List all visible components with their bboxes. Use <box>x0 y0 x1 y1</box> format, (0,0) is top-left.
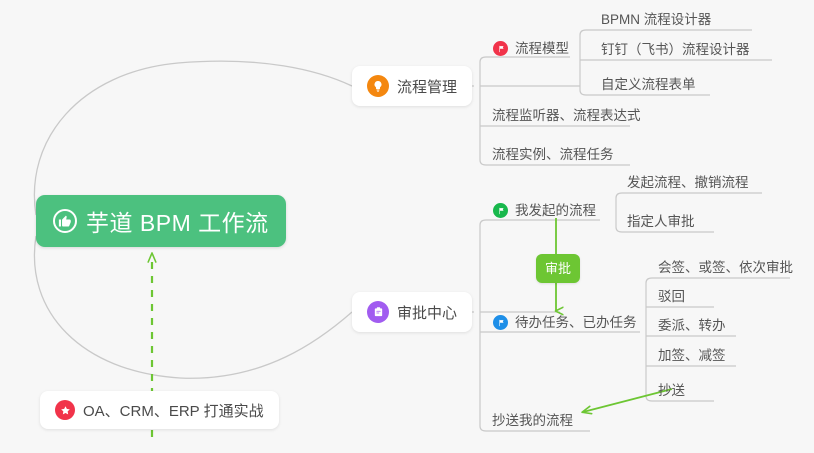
leaf-custom-form[interactable]: 自定义流程表单 <box>601 77 696 98</box>
leaf-label-bpmn-designer: BPMN 流程设计器 <box>601 12 711 28</box>
leaf-label-start-cancel: 发起流程、撤销流程 <box>627 175 749 191</box>
lightbulb-icon <box>367 75 389 97</box>
leaf-start-cancel[interactable]: 发起流程、撤销流程 <box>627 175 749 196</box>
leaf-assignee-approval[interactable]: 指定人审批 <box>627 214 695 235</box>
leaf-label-todo-done: 待办任务、已办任务 <box>515 315 637 331</box>
annotation-chip-approve: 审批 <box>536 254 580 283</box>
thumbs-up-icon <box>53 209 77 233</box>
leaf-process-instance[interactable]: 流程实例、流程任务 <box>492 147 614 168</box>
leaf-label-process-model: 流程模型 <box>515 41 569 57</box>
branch-label-process-management: 流程管理 <box>397 76 457 97</box>
leaf-label-assignee-approval: 指定人审批 <box>627 214 695 230</box>
leaf-label-process-listener: 流程监听器、流程表达式 <box>492 108 641 124</box>
leaf-label-multi-sign: 会签、或签、依次审批 <box>658 260 793 276</box>
bottom-note-label: OA、CRM、ERP 打通实战 <box>83 400 264 421</box>
leaf-process-listener[interactable]: 流程监听器、流程表达式 <box>492 108 641 129</box>
flag-blue-icon <box>493 315 508 330</box>
edge-root-to-approval-center <box>34 236 352 378</box>
leaf-label-my-initiated: 我发起的流程 <box>515 203 596 219</box>
leaf-delegate-transfer[interactable]: 委派、转办 <box>658 318 726 339</box>
mindmap-canvas: 芋道 BPM 工作流 流程管理 流程模型 BPMN 流程设计器 钉钉（飞书）流程… <box>0 0 814 453</box>
flag-green-icon <box>493 203 508 218</box>
leaf-label-delegate-transfer: 委派、转办 <box>658 318 726 334</box>
edge-root-to-process-management <box>34 61 352 215</box>
branch-label-approval-center: 审批中心 <box>397 302 457 323</box>
leaf-label-cc: 抄送 <box>658 383 685 399</box>
leaf-todo-done[interactable]: 待办任务、已办任务 <box>493 315 637 336</box>
star-icon <box>55 400 75 420</box>
leaf-label-add-remove-sign: 加签、减签 <box>658 348 726 364</box>
leaf-reject[interactable]: 驳回 <box>658 289 685 310</box>
leaf-label-cc-to-me: 抄送我的流程 <box>492 413 573 429</box>
root-label: 芋道 BPM 工作流 <box>86 204 269 238</box>
leaf-my-initiated[interactable]: 我发起的流程 <box>493 203 596 224</box>
branch-node-process-management[interactable]: 流程管理 <box>352 66 472 106</box>
leaf-multi-sign[interactable]: 会签、或签、依次审批 <box>658 260 793 281</box>
annotation-chip-approve-label: 审批 <box>545 261 571 276</box>
leaf-label-process-instance: 流程实例、流程任务 <box>492 147 614 163</box>
leaf-process-model[interactable]: 流程模型 <box>493 41 569 62</box>
leaf-bpmn-designer[interactable]: BPMN 流程设计器 <box>601 12 711 33</box>
bottom-note-node[interactable]: OA、CRM、ERP 打通实战 <box>40 391 279 429</box>
leaf-label-custom-form: 自定义流程表单 <box>601 77 696 93</box>
leaf-label-dingtalk-designer: 钉钉（飞书）流程设计器 <box>601 42 750 58</box>
root-node[interactable]: 芋道 BPM 工作流 <box>36 195 286 247</box>
flag-red-icon <box>493 41 508 56</box>
leaf-cc[interactable]: 抄送 <box>658 383 685 404</box>
leaf-cc-to-me[interactable]: 抄送我的流程 <box>492 413 573 434</box>
branch-node-approval-center[interactable]: 审批中心 <box>352 292 472 332</box>
leaf-label-reject: 驳回 <box>658 289 685 305</box>
clipboard-icon <box>367 301 389 323</box>
leaf-dingtalk-designer[interactable]: 钉钉（飞书）流程设计器 <box>601 42 750 63</box>
leaf-add-remove-sign[interactable]: 加签、减签 <box>658 348 726 369</box>
